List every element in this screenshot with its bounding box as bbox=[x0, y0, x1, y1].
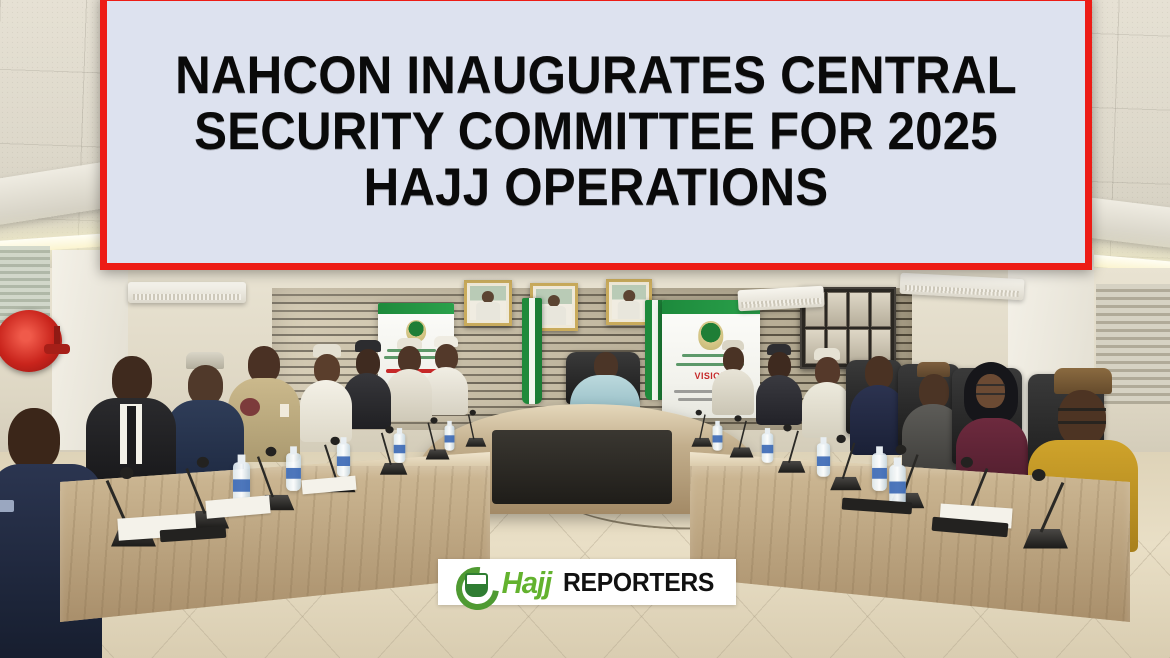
person-official bbox=[300, 344, 352, 434]
air-conditioner-unit bbox=[738, 286, 825, 311]
person-official bbox=[756, 344, 802, 418]
watermark-brand-secondary: REPORTERS bbox=[563, 569, 714, 595]
headline-banner: NAHCON INAUGURATES CENTRAL SECURITY COMM… bbox=[100, 0, 1092, 270]
water-bottle bbox=[286, 453, 301, 491]
necktie bbox=[127, 406, 136, 464]
water-bottle bbox=[762, 433, 774, 462]
eyeglasses-icon bbox=[1058, 408, 1106, 424]
watermark-brand-primary: Hajj bbox=[502, 567, 552, 598]
headline-text: NAHCON INAUGURATES CENTRAL SECURITY COMM… bbox=[141, 48, 1051, 217]
table-modesty-panel bbox=[492, 430, 672, 504]
person-official bbox=[386, 338, 432, 414]
water-bottle bbox=[872, 453, 887, 491]
news-graphic: VISION bbox=[0, 0, 1170, 658]
fire-hose-reel-icon bbox=[0, 310, 74, 374]
hajj-reporters-logo-icon bbox=[456, 565, 494, 599]
water-bottle bbox=[337, 443, 350, 477]
epaulette bbox=[0, 500, 14, 512]
water-bottle bbox=[713, 425, 723, 450]
person-official bbox=[712, 340, 754, 410]
eyeglasses-icon bbox=[976, 384, 1005, 395]
air-conditioner-unit bbox=[128, 282, 246, 303]
person-official bbox=[802, 348, 852, 430]
watermark: Hajj REPORTERS bbox=[438, 559, 736, 605]
water-bottle bbox=[817, 443, 830, 477]
water-bottle bbox=[445, 425, 455, 450]
water-bottle bbox=[394, 433, 406, 462]
id-card bbox=[280, 404, 289, 417]
framed-portrait bbox=[464, 280, 512, 326]
banner-top-band bbox=[378, 303, 454, 314]
nigeria-flag bbox=[522, 298, 542, 404]
